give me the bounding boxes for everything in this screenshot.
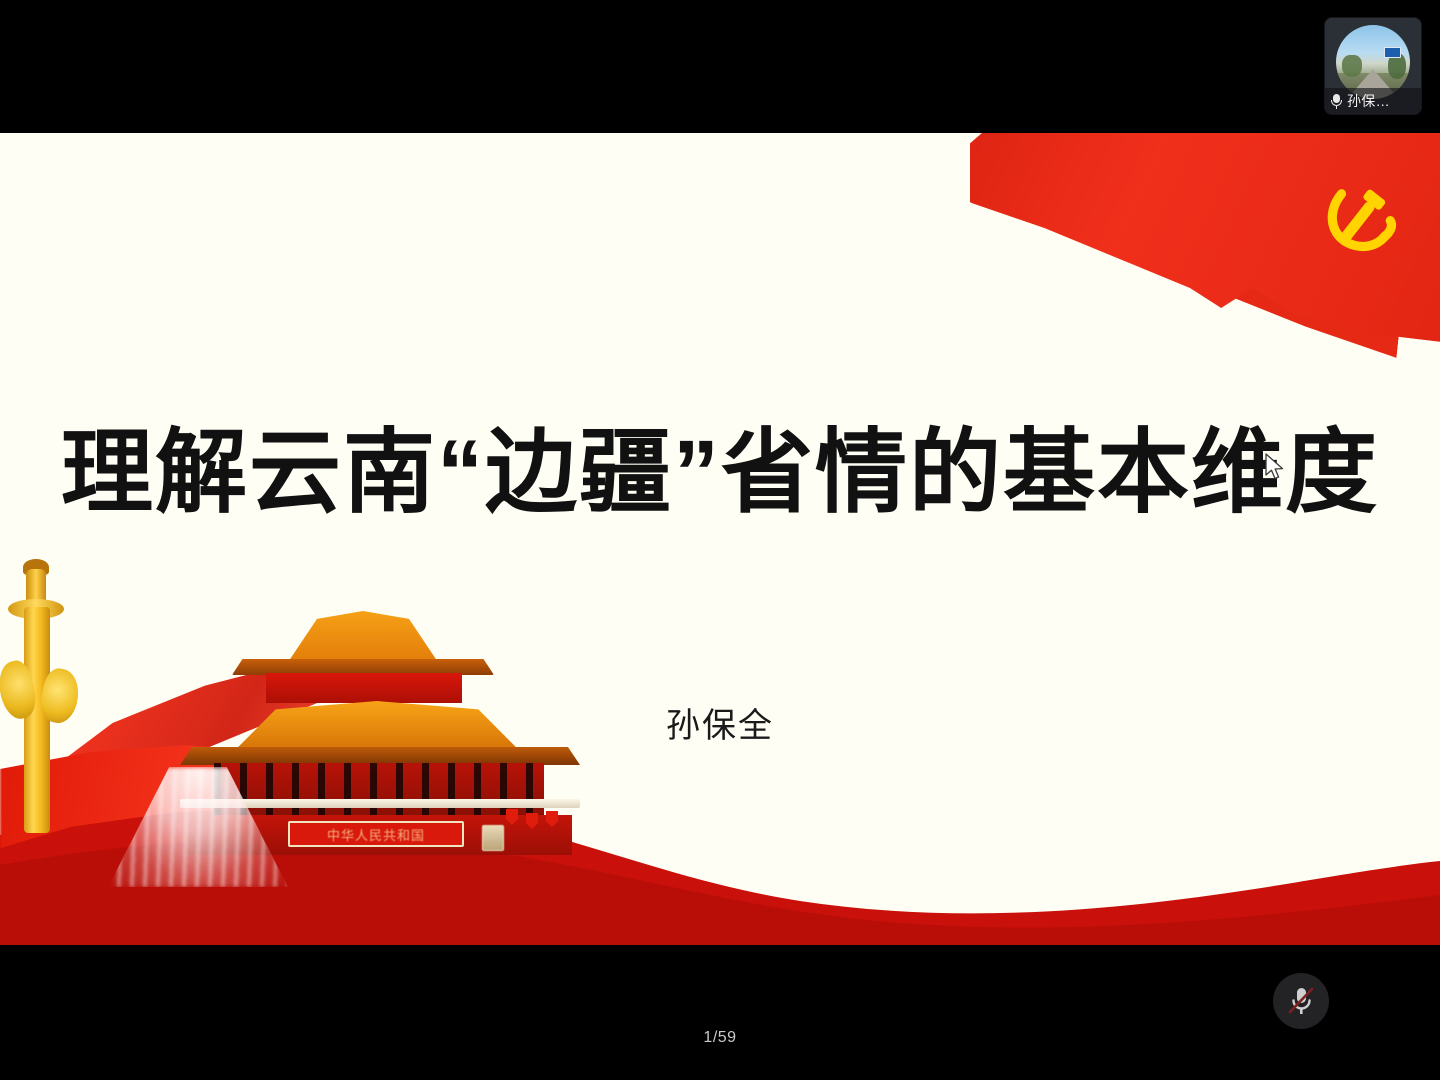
avatar-road-sign-icon (1384, 47, 1401, 58)
meeting-screen-share-view: 孙保… (0, 0, 1440, 1080)
gate-banner-text: 中华人民共和国 (327, 825, 425, 844)
slide-title: 理解云南“边疆”省情的基本维度 (0, 423, 1440, 524)
participant-tile-footer: 孙保… (1325, 88, 1421, 114)
participant-name: 孙保… (1347, 88, 1390, 114)
microphone-icon (1330, 93, 1343, 110)
presentation-slide: 中华人民共和国 理解云南“边疆”省情的基本维度 孙保全 (0, 133, 1440, 945)
red-flag-decoration (970, 133, 1440, 363)
bottom-bar (0, 945, 1440, 1080)
avatar-tree-left-icon (1342, 55, 1362, 77)
gate-portrait (482, 825, 504, 851)
hammer-and-sickle-icon (1318, 177, 1402, 261)
top-bar (0, 0, 1440, 133)
page-indicator: 1/59 (0, 1029, 1440, 1047)
gate-banner: 中华人民共和国 (288, 821, 464, 847)
microphone-muted-icon (1286, 984, 1316, 1018)
participant-video-tile[interactable]: 孙保… (1325, 18, 1421, 114)
slide-author: 孙保全 (0, 698, 1440, 747)
mute-button[interactable] (1273, 973, 1329, 1029)
